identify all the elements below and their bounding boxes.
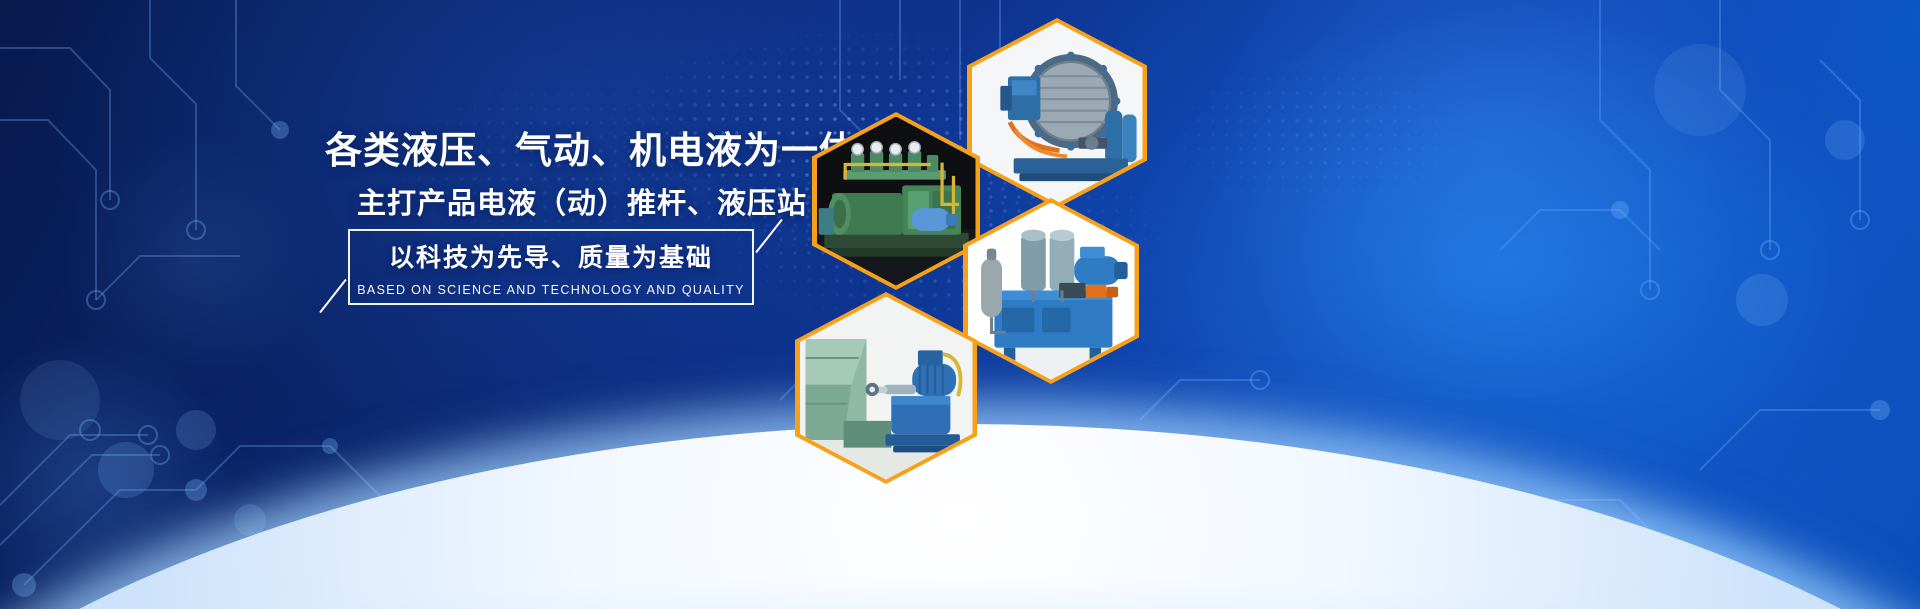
product-photo-electro-hydraulic-pusher: [800, 297, 973, 480]
product-photo-hydraulic-power-unit-blue: [968, 203, 1135, 380]
hex-inner-hydraulic-pump-station-green: [817, 117, 976, 286]
product-photo-hydraulic-pump-station-green: [817, 117, 976, 286]
dot-matrix-decoration-right: [1150, 30, 1570, 240]
hex-tile-butterfly-valve-actuator[interactable]: [967, 18, 1147, 208]
glow-blob-upper-left: [60, 130, 320, 390]
headline-group: 各类液压、气动、机电液为一体 主打产品电液（动）推杆、液压站: [325, 128, 795, 224]
slash-right-decoration: [755, 219, 782, 253]
hex-inner-butterfly-valve-actuator: [972, 23, 1143, 204]
slogan-box: 以科技为先导、质量为基础 BASED ON SCIENCE AND TECHNO…: [348, 229, 754, 305]
slogan-box-group: 以科技为先导、质量为基础 BASED ON SCIENCE AND TECHNO…: [348, 229, 754, 305]
earth-globe-arc: [0, 424, 1920, 609]
slash-left-decoration: [319, 279, 346, 313]
hex-inner-electro-hydraulic-pusher: [800, 297, 973, 480]
headline-secondary: 主打产品电液（动）推杆、液压站: [325, 186, 795, 224]
product-photo-butterfly-valve-actuator: [972, 23, 1143, 204]
hex-inner-hydraulic-power-unit-blue: [968, 203, 1135, 380]
glow-blob-right: [1180, 0, 1800, 400]
hero-banner: 各类液压、气动、机电液为一体 主打产品电液（动）推杆、液压站 以科技为先导、质量…: [0, 0, 1920, 609]
slogan-english: BASED ON SCIENCE AND TECHNOLOGY AND QUAL…: [357, 283, 745, 297]
hex-tile-hydraulic-power-unit-blue[interactable]: [963, 198, 1139, 384]
headline-primary: 各类液压、气动、机电液为一体: [325, 128, 795, 174]
slogan-chinese: 以科技为先导、质量为基础: [389, 238, 713, 274]
